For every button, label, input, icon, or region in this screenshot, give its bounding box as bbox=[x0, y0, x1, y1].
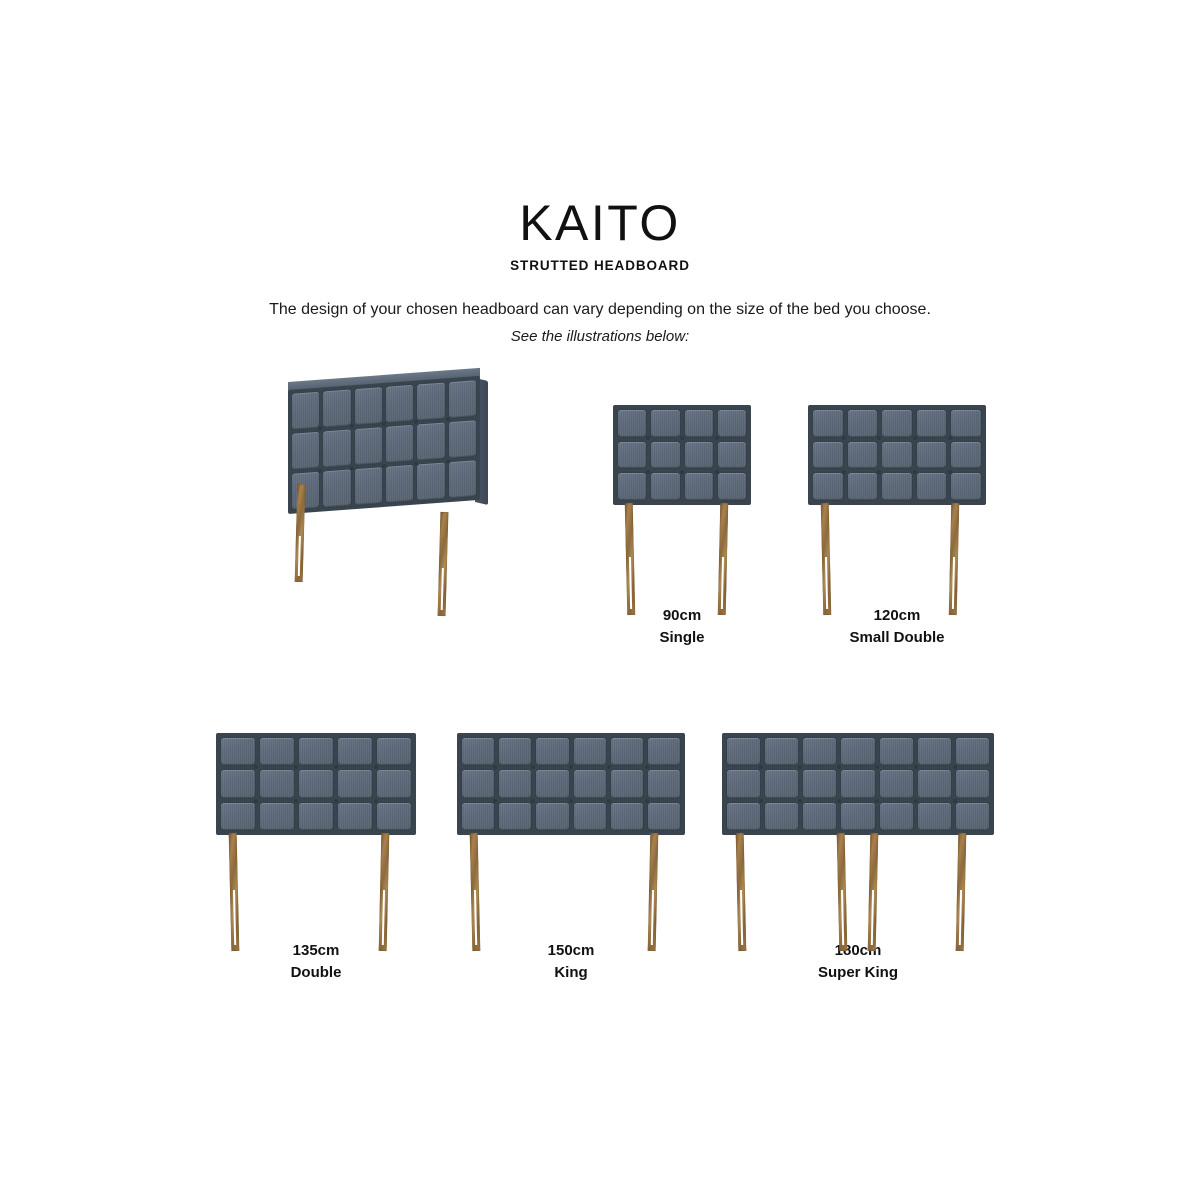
headboard-panel bbox=[718, 473, 746, 500]
headboard-panel bbox=[499, 770, 531, 797]
product-subtitle: STRUTTED HEADBOARD bbox=[0, 258, 1200, 273]
headboard-panel bbox=[386, 425, 413, 463]
headboard-panel bbox=[956, 770, 989, 797]
tuft-button bbox=[837, 765, 841, 769]
panel-grid-small-double-120 bbox=[808, 405, 986, 505]
size-label-small-double-120: 120cm Small Double bbox=[808, 605, 986, 649]
strut-slot bbox=[952, 557, 955, 609]
tuft-button bbox=[798, 799, 802, 803]
panel-grid-single-90 bbox=[613, 405, 751, 505]
strut-leg bbox=[956, 833, 967, 951]
headboard-panel bbox=[918, 803, 951, 830]
headboard-panel bbox=[918, 738, 951, 765]
headboard-panel bbox=[685, 410, 713, 437]
headboard-panel bbox=[449, 420, 476, 458]
strut-slot bbox=[841, 890, 844, 945]
tuft-button bbox=[759, 799, 763, 803]
strut-slot bbox=[825, 557, 828, 609]
hero-headboard-illustration bbox=[278, 372, 498, 622]
headboard-panel bbox=[803, 770, 836, 797]
headboard-panel bbox=[221, 738, 255, 765]
tuft-button bbox=[334, 799, 338, 803]
headboard-panel bbox=[917, 410, 947, 437]
tuft-button bbox=[382, 463, 386, 467]
headboard-panel bbox=[956, 803, 989, 830]
tuft-button bbox=[531, 765, 535, 769]
headboard-panel bbox=[718, 442, 746, 469]
strut-slot bbox=[871, 890, 874, 945]
headboard-panel bbox=[917, 473, 947, 500]
size-name: Small Double bbox=[808, 627, 986, 649]
strut-leg bbox=[648, 833, 659, 951]
tuft-button bbox=[875, 799, 879, 803]
headboard-panel bbox=[951, 473, 981, 500]
headboard-panel bbox=[323, 429, 350, 467]
strut-leg bbox=[229, 833, 240, 951]
headboard-panel bbox=[338, 803, 372, 830]
tuft-button bbox=[318, 468, 322, 472]
headboard-panel bbox=[338, 738, 372, 765]
headboard-panel bbox=[536, 803, 568, 830]
strut-slot bbox=[474, 890, 477, 945]
strut-slot bbox=[959, 890, 962, 945]
headboard-panel bbox=[536, 770, 568, 797]
tuft-button bbox=[914, 799, 918, 803]
headboard-panel bbox=[355, 387, 382, 425]
tuft-button bbox=[798, 765, 802, 769]
tuft-button bbox=[953, 799, 957, 803]
panel-grid-double-135 bbox=[216, 733, 416, 835]
headboard-panel bbox=[377, 770, 411, 797]
headboard-panel bbox=[882, 410, 912, 437]
size-name: King bbox=[481, 962, 661, 984]
panel-grid-super-king-180 bbox=[722, 733, 994, 835]
headboard-panel bbox=[718, 410, 746, 437]
tuft-button bbox=[531, 799, 535, 803]
tuft-button bbox=[715, 436, 719, 440]
variant-small-double-120: 120cm Small Double bbox=[808, 405, 986, 645]
variant-king-150: 150cm King bbox=[457, 733, 685, 983]
headboard-panel bbox=[292, 432, 319, 470]
headboard-panel bbox=[611, 803, 643, 830]
tuft-button bbox=[446, 417, 450, 421]
size-value: 180cm bbox=[768, 940, 948, 962]
headboard-panel bbox=[848, 410, 878, 437]
tuft-button bbox=[374, 765, 378, 769]
size-label-super-king-180: 180cm Super King bbox=[768, 940, 948, 984]
headboard-panel bbox=[803, 803, 836, 830]
headboard-panel bbox=[651, 442, 679, 469]
headboard-panel bbox=[813, 410, 843, 437]
tuft-button bbox=[759, 765, 763, 769]
headboard-panel bbox=[299, 770, 333, 797]
headboard-panel bbox=[841, 770, 874, 797]
headboard-panel bbox=[449, 460, 476, 498]
headboard-panel bbox=[651, 473, 679, 500]
strut-slot bbox=[740, 890, 743, 945]
tuft-button bbox=[645, 765, 649, 769]
strut-leg bbox=[836, 833, 847, 951]
headboard-panel bbox=[574, 770, 606, 797]
tuft-button bbox=[350, 466, 354, 470]
tuft-button bbox=[350, 424, 354, 428]
tuft-button bbox=[493, 799, 497, 803]
headboard-super-king-180 bbox=[722, 733, 994, 835]
headboard-panel bbox=[323, 469, 350, 507]
size-name: Single bbox=[593, 627, 771, 649]
strut-leg bbox=[821, 503, 832, 615]
strut-slot bbox=[651, 890, 654, 945]
tuft-button bbox=[318, 427, 322, 431]
headboard-panel bbox=[685, 473, 713, 500]
tuft-button bbox=[877, 436, 881, 440]
headboard-panel bbox=[727, 738, 760, 765]
headboard-panel bbox=[956, 738, 989, 765]
strut-slot bbox=[382, 890, 385, 945]
headboard-panel bbox=[618, 410, 646, 437]
headboard-panel bbox=[574, 803, 606, 830]
hero-panel-grid bbox=[288, 376, 480, 514]
headboard-panel bbox=[880, 803, 913, 830]
headboard-panel bbox=[882, 473, 912, 500]
tuft-button bbox=[913, 436, 917, 440]
strut-slot bbox=[629, 557, 632, 609]
tuft-button bbox=[334, 765, 338, 769]
headboard-panel bbox=[260, 803, 294, 830]
headboard-panel bbox=[417, 422, 444, 460]
headboard-panel bbox=[618, 473, 646, 500]
strut-leg bbox=[624, 503, 635, 615]
headboard-panel bbox=[355, 467, 382, 505]
tuft-button bbox=[374, 799, 378, 803]
headboard-panel bbox=[765, 770, 798, 797]
tuft-button bbox=[569, 765, 573, 769]
strut-slot bbox=[721, 557, 724, 609]
headboard-panel bbox=[386, 465, 413, 503]
headboard-panel bbox=[417, 382, 444, 420]
headboard-panel bbox=[951, 442, 981, 469]
tuft-button bbox=[646, 470, 650, 474]
headboard-panel bbox=[299, 803, 333, 830]
tuft-button bbox=[382, 422, 386, 426]
headboard-panel bbox=[462, 803, 494, 830]
tuft-button bbox=[953, 765, 957, 769]
strut-leg bbox=[379, 833, 390, 951]
tuft-button bbox=[607, 799, 611, 803]
headboard-panel bbox=[323, 389, 350, 427]
tuft-button bbox=[948, 436, 952, 440]
strut-leg bbox=[718, 503, 729, 615]
headboard-panel bbox=[882, 442, 912, 469]
headboard-panel bbox=[377, 738, 411, 765]
headboard-panel bbox=[848, 473, 878, 500]
headboard-panel bbox=[918, 770, 951, 797]
headboard-panel bbox=[917, 442, 947, 469]
hero-strut-right-slot bbox=[441, 568, 444, 610]
headboard-panel bbox=[386, 385, 413, 423]
headboard-panel bbox=[648, 770, 680, 797]
headboard-panel bbox=[685, 442, 713, 469]
headboard-panel bbox=[499, 738, 531, 765]
tuft-button bbox=[294, 765, 298, 769]
tuft-button bbox=[446, 459, 450, 463]
tuft-button bbox=[569, 799, 573, 803]
headboard-panel bbox=[221, 770, 255, 797]
headboard-panel bbox=[765, 803, 798, 830]
size-label-king-150: 150cm King bbox=[481, 940, 661, 984]
headboard-panel bbox=[813, 442, 843, 469]
headboard-panel bbox=[848, 442, 878, 469]
tuft-button bbox=[680, 470, 684, 474]
size-name: Double bbox=[226, 962, 406, 984]
tuft-button bbox=[680, 436, 684, 440]
headboard-panel bbox=[648, 803, 680, 830]
hero-strut-left-slot bbox=[298, 536, 301, 576]
headboard-panel bbox=[260, 738, 294, 765]
size-value: 90cm bbox=[593, 605, 771, 627]
tuft-button bbox=[913, 470, 917, 474]
headboard-panel bbox=[449, 380, 476, 418]
headboard-panel bbox=[221, 803, 255, 830]
tuft-button bbox=[877, 470, 881, 474]
headboard-panel bbox=[260, 770, 294, 797]
headboard-single-90 bbox=[613, 405, 751, 505]
size-label-single-90: 90cm Single bbox=[593, 605, 771, 649]
headboard-panel bbox=[377, 803, 411, 830]
tuft-button bbox=[837, 799, 841, 803]
headboard-panel bbox=[813, 473, 843, 500]
headboard-panel bbox=[951, 410, 981, 437]
headboard-panel bbox=[803, 738, 836, 765]
strut-leg bbox=[736, 833, 747, 951]
headboard-panel bbox=[499, 803, 531, 830]
hero-strut-left bbox=[295, 484, 306, 582]
headboard-panel bbox=[880, 738, 913, 765]
description-line-1: The design of your chosen headboard can … bbox=[0, 299, 1200, 321]
hero-strut-right bbox=[438, 512, 449, 616]
page-title: KAITO bbox=[0, 198, 1200, 248]
page-header: KAITO STRUTTED HEADBOARD The design of y… bbox=[0, 198, 1200, 345]
headboard-panel bbox=[292, 392, 319, 430]
headboard-panel bbox=[462, 770, 494, 797]
hero-headboard-front-face bbox=[288, 376, 480, 514]
headboard-panel bbox=[355, 427, 382, 465]
variant-super-king-180: 180cm Super King bbox=[722, 733, 994, 983]
size-name: Super King bbox=[768, 962, 948, 984]
headboard-panel bbox=[417, 462, 444, 500]
strut-leg bbox=[470, 833, 481, 951]
tuft-button bbox=[414, 461, 418, 465]
headboard-panel bbox=[727, 770, 760, 797]
tuft-button bbox=[254, 799, 258, 803]
size-value: 120cm bbox=[808, 605, 986, 627]
tuft-button bbox=[645, 799, 649, 803]
tuft-button bbox=[493, 765, 497, 769]
headboard-panel bbox=[618, 442, 646, 469]
headboard-panel bbox=[536, 738, 568, 765]
headboard-panel bbox=[651, 410, 679, 437]
tuft-button bbox=[607, 765, 611, 769]
headboard-panel bbox=[611, 738, 643, 765]
variant-double-135: 135cm Double bbox=[216, 733, 416, 983]
strut-leg bbox=[868, 833, 879, 951]
headboard-king-150 bbox=[457, 733, 685, 835]
headboard-panel bbox=[648, 738, 680, 765]
headboard-panel bbox=[299, 738, 333, 765]
headboard-panel bbox=[880, 770, 913, 797]
tuft-button bbox=[294, 799, 298, 803]
tuft-button bbox=[414, 420, 418, 424]
tuft-button bbox=[715, 470, 719, 474]
headboard-panel bbox=[727, 803, 760, 830]
tuft-button bbox=[842, 470, 846, 474]
strut-slot bbox=[233, 890, 236, 945]
tuft-button bbox=[914, 765, 918, 769]
headboard-panel bbox=[841, 738, 874, 765]
variant-single-90: 90cm Single bbox=[613, 405, 751, 645]
headboard-small-double-120 bbox=[808, 405, 986, 505]
headboard-panel bbox=[338, 770, 372, 797]
size-value: 150cm bbox=[481, 940, 661, 962]
headboard-panel bbox=[462, 738, 494, 765]
strut-leg bbox=[949, 503, 960, 615]
tuft-button bbox=[646, 436, 650, 440]
headboard-panel bbox=[611, 770, 643, 797]
headboard-panel bbox=[841, 803, 874, 830]
tuft-button bbox=[875, 765, 879, 769]
headboard-panel bbox=[574, 738, 606, 765]
headboard-double-135 bbox=[216, 733, 416, 835]
tuft-button bbox=[254, 765, 258, 769]
description-line-2: See the illustrations below: bbox=[0, 328, 1200, 345]
tuft-button bbox=[842, 436, 846, 440]
headboard-panel bbox=[765, 738, 798, 765]
panel-grid-king-150 bbox=[457, 733, 685, 835]
